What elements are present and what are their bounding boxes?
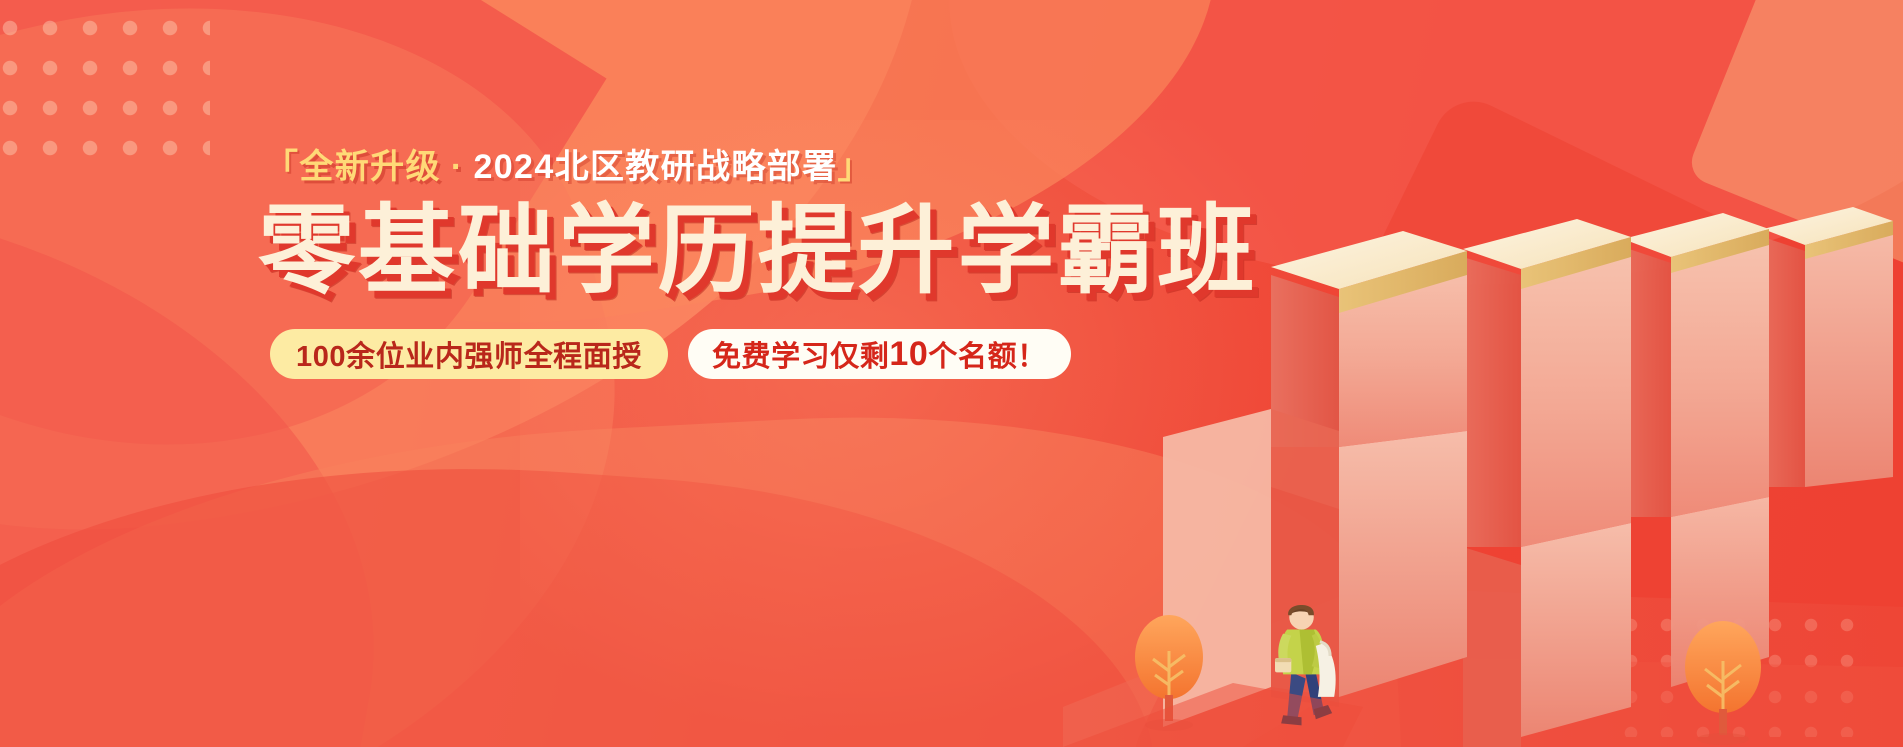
subtitle-separator-dot: ·: [451, 150, 464, 184]
quota-count: 10: [889, 335, 928, 374]
teachers-pill-label: 100余位业内强师全程面授: [296, 333, 642, 375]
book-arch-icon: [1763, 207, 1893, 487]
subtitle-white-text: 2024北区教研战略部署: [474, 150, 838, 184]
page-title: 零基础学历提升学霸班: [258, 202, 1258, 299]
subtitle-highlight: 全新升级: [299, 150, 440, 184]
promo-banner: 「 全新升级 · 2024北区教研战略部署 」 零基础学历提升学霸班 100余位…: [0, 0, 1903, 747]
bracket-close: 」: [837, 150, 872, 184]
banner-subtitle: 「 全新升级 · 2024北区教研战略部署 」: [264, 150, 1258, 184]
dot-grid-top-left-icon: [0, 8, 210, 180]
badge-row: 100余位业内强师全程面授 免费学习仅剩 10 个名额！: [270, 329, 1258, 379]
quota-prefix: 免费学习仅剩: [712, 333, 889, 375]
book-arch-icon: [1463, 219, 1631, 747]
quota-suffix: 个名额！: [928, 333, 1046, 375]
quota-pill: 免费学习仅剩 10 个名额！: [688, 329, 1071, 379]
teachers-pill: 100余位业内强师全程面授: [270, 329, 668, 379]
bracket-open: 「: [264, 150, 299, 184]
banner-content: 「 全新升级 · 2024北区教研战略部署 」 零基础学历提升学霸班 100余位…: [258, 150, 1258, 379]
